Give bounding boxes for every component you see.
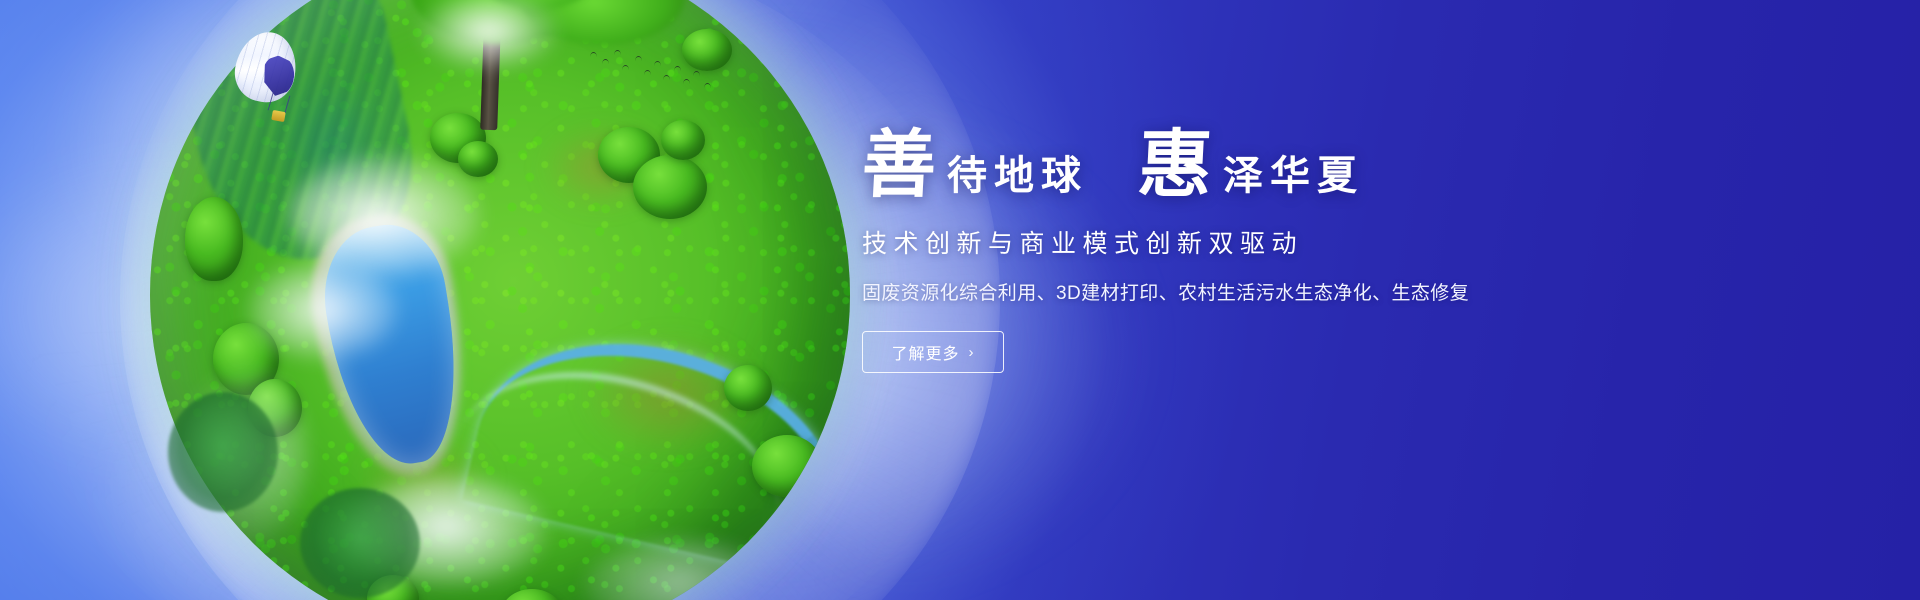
bird-icon (590, 52, 597, 57)
foreground-tree (300, 488, 420, 598)
bird-icon (704, 83, 711, 88)
bird-icon (654, 61, 661, 66)
headline-text-1: 待地球 (937, 156, 1088, 202)
learn-more-button[interactable]: 了解更多 › (862, 331, 1004, 373)
tree-canopy (168, 392, 278, 512)
bird-icon (635, 56, 642, 61)
bird-icon (693, 71, 700, 76)
headline-text-2: 泽华夏 (1213, 156, 1364, 202)
hot-air-balloon-icon (236, 32, 300, 128)
mist-overlay (414, 0, 564, 74)
headline-char-1: 善 (860, 128, 939, 202)
tree-cluster (458, 141, 498, 177)
foreground-tree (168, 392, 278, 512)
headline-char-2: 惠 (1136, 128, 1215, 202)
bird-icon (674, 66, 681, 71)
banner-content: 善 待地球 惠 泽华夏 技术创新与商业模式创新双驱动 固废资源化综合利用、3D建… (862, 128, 1562, 373)
tree-cluster (633, 155, 707, 219)
learn-more-label: 了解更多 (891, 340, 959, 364)
chevron-right-icon: › (969, 345, 975, 360)
tree-cluster (185, 197, 243, 281)
headline: 善 待地球 惠 泽华夏 (862, 128, 1562, 202)
bird-icon (622, 65, 629, 70)
bird-flock-icon (588, 48, 718, 92)
surface-cloud (248, 260, 398, 360)
tree-canopy (300, 488, 420, 598)
tree-cluster (752, 435, 822, 497)
surface-cloud (290, 155, 480, 275)
balloon-basket (271, 110, 286, 122)
bird-icon (663, 75, 670, 80)
bird-icon (602, 59, 609, 64)
bird-icon (683, 79, 690, 84)
banner-subtitle: 技术创新与商业模式创新双驱动 (862, 224, 1562, 260)
bird-icon (644, 70, 651, 75)
tree-cluster (724, 365, 772, 411)
bird-icon (614, 50, 621, 55)
banner-description: 固废资源化综合利用、3D建材打印、农村生活污水生态净化、生态修复 (862, 278, 1562, 305)
hero-banner: 善 待地球 惠 泽华夏 技术创新与商业模式创新双驱动 固废资源化综合利用、3D建… (0, 0, 1920, 600)
